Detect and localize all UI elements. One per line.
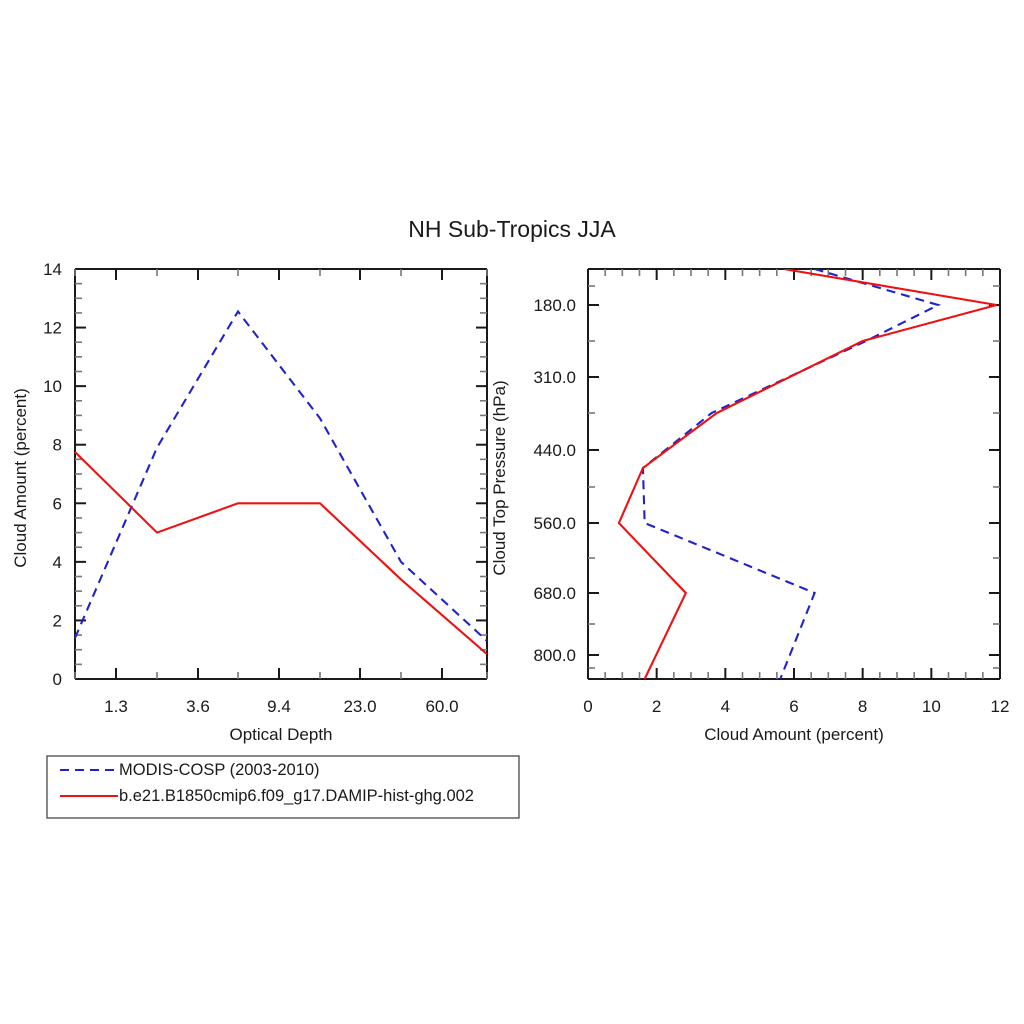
left-panel-x-axis-label: Optical Depth <box>230 725 333 744</box>
y-tick-label: 560.0 <box>533 514 576 533</box>
right-panel: 180.0310.0440.0560.0680.0800.0 024681012… <box>490 269 1009 744</box>
y-tick-label: 310.0 <box>533 368 576 387</box>
plot-figure: NH Sub-Tropics JJA 14121086420 1.33.69.4… <box>0 0 1024 1024</box>
left-panel: 14121086420 1.33.69.423.060.0 Cloud Amou… <box>11 260 487 744</box>
y-tick-label: 2 <box>53 611 62 630</box>
right-panel-series-group <box>619 269 997 679</box>
right-series-line-modis <box>643 269 938 679</box>
right-panel-x-axis-label: Cloud Amount (percent) <box>704 725 884 744</box>
left-panel-x-ticks <box>75 269 487 679</box>
right-panel-y-ticks <box>588 286 1000 668</box>
x-tick-label: 8 <box>858 697 867 716</box>
left-panel-y-axis-label: Cloud Amount (percent) <box>11 388 30 568</box>
x-tick-label: 12 <box>991 697 1010 716</box>
y-tick-label: 8 <box>53 436 62 455</box>
y-tick-label: 680.0 <box>533 584 576 603</box>
x-tick-label: 60.0 <box>425 697 458 716</box>
y-tick-label: 14 <box>43 260 62 279</box>
left-series-line-model <box>75 452 487 654</box>
y-tick-label: 4 <box>53 553 62 572</box>
right-panel-y-axis-label: Cloud Top Pressure (hPa) <box>490 380 509 575</box>
x-tick-label: 1.3 <box>104 697 128 716</box>
right-panel-y-tick-labels: 180.0310.0440.0560.0680.0800.0 <box>533 296 576 665</box>
x-tick-label: 4 <box>721 697 730 716</box>
legend-label-model: b.e21.B1850cmip6.f09_g17.DAMIP-hist-ghg.… <box>119 787 474 805</box>
y-tick-label: 0 <box>53 670 62 689</box>
x-tick-label: 6 <box>789 697 798 716</box>
y-tick-label: 800.0 <box>533 646 576 665</box>
y-tick-label: 440.0 <box>533 441 576 460</box>
legend: MODIS-COSP (2003-2010)b.e21.B1850cmip6.f… <box>47 756 519 818</box>
right-panel-x-tick-labels: 024681012 <box>583 697 1009 716</box>
figure-title: NH Sub-Tropics JJA <box>408 216 616 242</box>
y-tick-label: 6 <box>53 494 62 513</box>
x-tick-label: 3.6 <box>186 697 210 716</box>
legend-items: MODIS-COSP (2003-2010)b.e21.B1850cmip6.f… <box>60 761 474 805</box>
left-series-line-modis <box>75 311 487 640</box>
x-tick-label: 23.0 <box>343 697 376 716</box>
figure-canvas: NH Sub-Tropics JJA 14121086420 1.33.69.4… <box>0 0 1024 1024</box>
left-panel-x-tick-labels: 1.33.69.423.060.0 <box>104 697 458 716</box>
x-tick-label: 2 <box>652 697 661 716</box>
x-tick-label: 0 <box>583 697 592 716</box>
y-tick-label: 10 <box>43 377 62 396</box>
y-tick-label: 180.0 <box>533 296 576 315</box>
x-tick-label: 9.4 <box>267 697 291 716</box>
left-panel-y-ticks <box>75 269 487 679</box>
legend-label-modis: MODIS-COSP (2003-2010) <box>119 761 320 779</box>
x-tick-label: 10 <box>922 697 941 716</box>
left-panel-y-tick-labels: 14121086420 <box>43 260 62 689</box>
right-series-line-model <box>619 269 997 679</box>
y-tick-label: 12 <box>43 319 62 338</box>
right-panel-x-ticks <box>588 269 1000 679</box>
left-panel-series-group <box>75 311 487 654</box>
